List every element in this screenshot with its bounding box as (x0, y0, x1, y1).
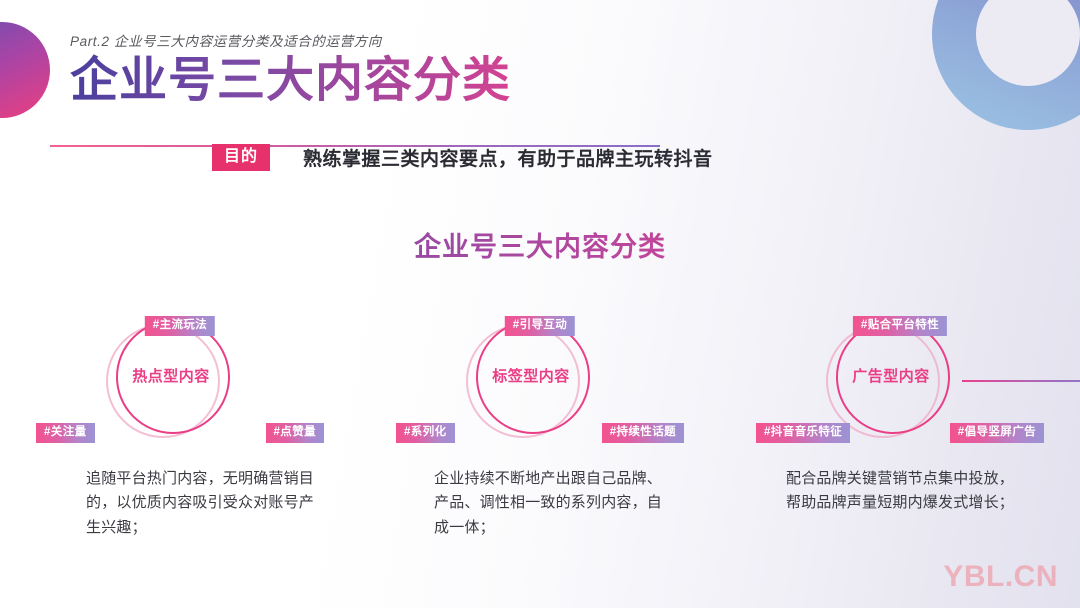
tag-bottom-left: #关注量 (36, 423, 95, 443)
content-column-label: 标签型内容 #引导互动 #系列化 #持续性话题 企业持续不断地产出跟自己品牌、产… (360, 310, 720, 540)
content-columns: 热点型内容 #主流玩法 #关注量 #点赞量 追随平台热门内容，无明确营销目的，以… (0, 310, 1080, 540)
purpose-text: 熟练掌握三类内容要点，有助于品牌主玩转抖音 (303, 144, 713, 171)
content-column-advertising: 广告型内容 #贴合平台特性 #抖音音乐特征 #倡导竖屏广告 配合品牌关键营销节点… (720, 310, 1080, 540)
ring-label: 热点型内容 (116, 320, 226, 430)
tag-bottom-left: #抖音音乐特征 (756, 423, 850, 443)
slide-header: Part.2 企业号三大内容运营分类及适合的运营方向 企业号三大内容分类 (70, 30, 670, 108)
side-connector-rule (962, 380, 1080, 382)
section-heading: 企业号三大内容分类 (0, 225, 1080, 264)
tag-top: #主流玩法 (145, 316, 215, 336)
decorative-gradient-ring-right (932, 0, 1080, 130)
decorative-gradient-circle-left (0, 22, 50, 118)
part-kicker: Part.2 企业号三大内容运营分类及适合的运营方向 (70, 30, 670, 50)
tag-bottom-right: #点赞量 (266, 423, 325, 443)
watermark: YBL.CN (943, 560, 1058, 594)
content-column-hotspot: 热点型内容 #主流玩法 #关注量 #点赞量 追随平台热门内容，无明确营销目的，以… (0, 310, 360, 540)
ring-label: 广告型内容 (836, 320, 946, 430)
circle-diagram: 热点型内容 #主流玩法 #关注量 #点赞量 (30, 310, 330, 445)
tag-top: #引导互动 (505, 316, 575, 336)
circle-diagram: 广告型内容 #贴合平台特性 #抖音音乐特征 #倡导竖屏广告 (750, 310, 1050, 445)
purpose-row: 目的 熟练掌握三类内容要点，有助于品牌主玩转抖音 (212, 144, 713, 171)
tag-bottom-left: #系列化 (396, 423, 455, 443)
column-body-text: 企业持续不断地产出跟自己品牌、产品、调性相一致的系列内容，自成一体； (434, 467, 672, 540)
tag-bottom-right: #持续性话题 (602, 423, 684, 443)
ring-label: 标签型内容 (476, 320, 586, 430)
column-body-text: 配合品牌关键营销节点集中投放，帮助品牌声量短期内爆发式增长； (786, 467, 1024, 516)
column-body-text: 追随平台热门内容，无明确营销目的，以优质内容吸引受众对账号产生兴趣； (86, 467, 324, 540)
purpose-badge: 目的 (212, 144, 270, 171)
slide-canvas: Part.2 企业号三大内容运营分类及适合的运营方向 企业号三大内容分类 目的 … (0, 0, 1080, 608)
tag-bottom-right: #倡导竖屏广告 (950, 423, 1044, 443)
page-title: 企业号三大内容分类 (70, 54, 670, 108)
circle-diagram: 标签型内容 #引导互动 #系列化 #持续性话题 (390, 310, 690, 445)
tag-top: #贴合平台特性 (853, 316, 947, 336)
